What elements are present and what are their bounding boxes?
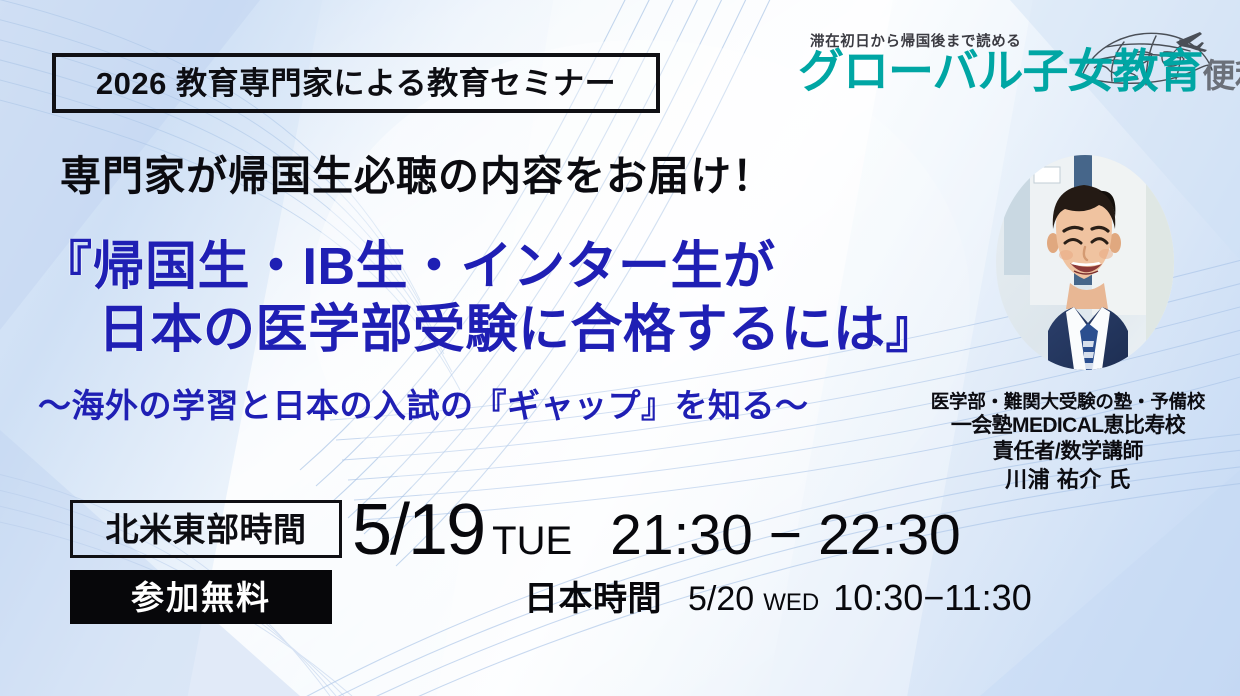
jp-date: 5/20: [688, 582, 754, 616]
brand-logo: 滞在初日から帰国後まで読める グローバル: [786, 28, 1218, 120]
logo-wordmark: グローバル子女教育 便利帳: [798, 48, 1240, 94]
speaker-name: 川浦 祐介 氏: [900, 466, 1236, 495]
seminar-badge: 2026 教育専門家による教育セミナー: [52, 53, 660, 113]
title-line-2: 日本の医学部受験に合格するには』: [40, 299, 938, 362]
us-time-dash: −: [769, 507, 802, 564]
jp-day-of-week: WED: [763, 591, 819, 615]
schedule-us: 5/19 TUE 21:30 − 22:30: [352, 494, 961, 566]
speaker-org-line-2: 一会塾MEDICAL恵比寿校: [900, 413, 1236, 439]
speaker-photo: [996, 155, 1174, 370]
seminar-poster: 2026 教育専門家による教育セミナー 滞在初日から帰国後まで読める: [0, 0, 1240, 696]
logo-name-gray: 便利帳: [1203, 59, 1240, 94]
speaker-portrait-illustration: [996, 155, 1174, 370]
speaker-role: 責任者/数学講師: [900, 439, 1236, 465]
us-day-of-week: TUE: [492, 521, 572, 561]
seminar-badge-label: 2026 教育専門家による教育セミナー: [96, 68, 616, 99]
jp-time-range: 10:30−11:30: [833, 580, 1032, 616]
title-line-1: 『帰国生・IB生・インター生が: [40, 238, 776, 296]
headline: 専門家が帰国生必聴の内容をお届け！: [60, 156, 774, 197]
us-start-time: 21:30: [610, 507, 753, 564]
timezone-label: 北米東部時間: [106, 513, 307, 546]
us-end-time: 22:30: [818, 507, 961, 564]
speaker-org-line-1: 医学部・難関大受験の塾・予備校: [900, 390, 1236, 413]
page-title: 『帰国生・IB生・インター生が 日本の医学部受験に合格するには』: [40, 236, 938, 363]
jp-timezone-label: 日本時間: [524, 582, 662, 616]
speaker-info: 医学部・難関大受験の塾・予備校 一会塾MEDICAL恵比寿校 責任者/数学講師 …: [900, 390, 1236, 494]
schedule-jp: 日本時間 5/20 WED 10:30−11:30: [524, 580, 1032, 616]
free-entry-label: 参加無料: [131, 581, 271, 614]
timezone-badge: 北米東部時間: [70, 500, 342, 558]
logo-name-teal: グローバル子女教育: [798, 48, 1203, 94]
us-date: 5/19: [352, 494, 484, 566]
subtitle: 〜海外の学習と日本の入試の『ギャップ』を知る〜: [38, 389, 809, 422]
free-entry-badge: 参加無料: [70, 570, 332, 624]
